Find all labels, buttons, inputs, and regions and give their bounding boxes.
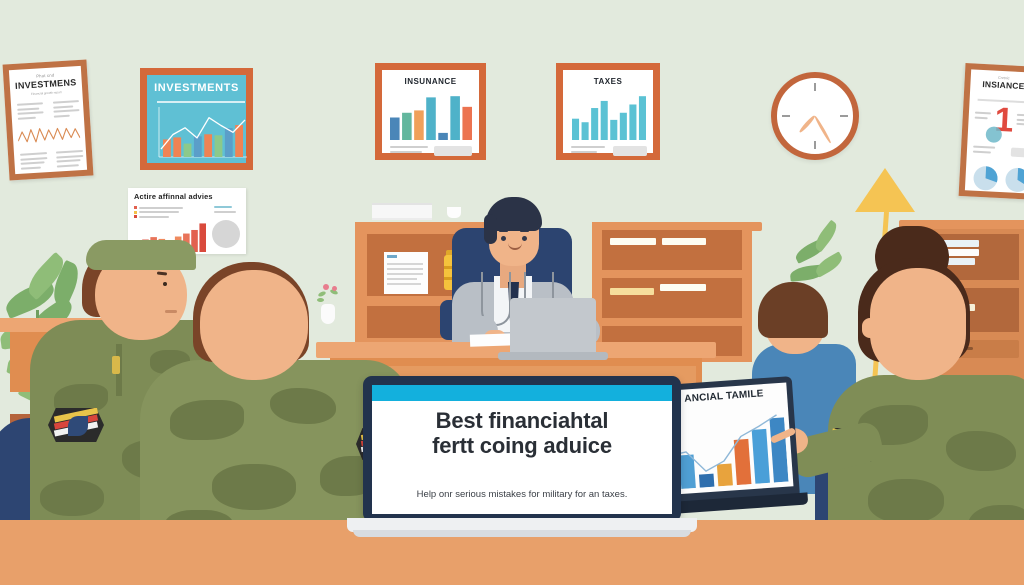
- book-stack: [660, 284, 706, 291]
- poster-insurance: INSUNANCE: [375, 63, 486, 160]
- shoulder-patch-left: [48, 408, 104, 442]
- camo-patch: [946, 431, 1016, 471]
- advisor-hair-side: [484, 214, 497, 244]
- poster-title: INSUNANCE: [382, 77, 479, 86]
- poster-mid-lines: [973, 146, 995, 156]
- paper-stack: [372, 203, 432, 218]
- poster-title: TAXES: [563, 77, 653, 86]
- poster-bar-chart: [572, 92, 646, 140]
- clock-tick-9: [782, 115, 790, 117]
- book-stack: [662, 238, 706, 245]
- laptop-headline-line2: fertt coing aduice: [432, 433, 612, 458]
- laptop-screen-header-bar: [372, 385, 672, 401]
- advisor-laptop-screen[interactable]: [510, 298, 596, 354]
- poster-footer-lines: [20, 152, 48, 172]
- poster-text-lines: [17, 102, 46, 122]
- clock-tick-3: [840, 115, 848, 117]
- camo-patch: [868, 479, 944, 523]
- desk-lamp-shade: [855, 168, 915, 212]
- poster-bar-line-chart: [155, 105, 247, 161]
- camo-patch: [212, 464, 296, 510]
- poster-left-lines: [975, 112, 991, 122]
- soldier-second-left-head: [200, 270, 308, 380]
- office-scene-illustration: Phut cnd INVESTMENS Financial growth rep…: [0, 0, 1024, 585]
- coffee-cup: [447, 207, 461, 218]
- eye: [163, 282, 167, 286]
- book-stack: [610, 238, 656, 245]
- poster-title: INSIANCE: [970, 78, 1024, 91]
- poster-footer-block: [434, 146, 472, 156]
- poster-footer-lines-2: [56, 150, 84, 170]
- advisor-laptop-base[interactable]: [498, 352, 608, 360]
- shelf-document: [384, 252, 428, 294]
- clock-tick-6: [814, 141, 816, 149]
- advisor-eye-right: [522, 236, 527, 241]
- poster-title: INVESTMENTS: [147, 82, 246, 94]
- laptop-headline-line1: Best financiahtal: [436, 408, 609, 433]
- poster-legend: [134, 206, 183, 218]
- poster-bar-chart: [390, 92, 472, 140]
- poster-taxes: TAXES: [556, 63, 660, 160]
- poster-pie-chart: [212, 220, 240, 248]
- poster-right-lines: [1016, 114, 1024, 128]
- foreground-laptop-base-shadow: [353, 530, 691, 537]
- soldier-right-head: [870, 268, 966, 380]
- poster-investments-teal: INVESTMENTS: [140, 68, 253, 170]
- advisor-eye-left: [501, 236, 506, 241]
- wall-clock: [771, 72, 859, 160]
- camo-patch: [170, 400, 244, 440]
- poster-pie-charts: [971, 162, 1024, 197]
- poster-divider: [157, 101, 245, 103]
- brow: [157, 271, 167, 275]
- poster-title: Actire affinnal advies: [134, 192, 246, 201]
- flower-vase: [312, 282, 342, 324]
- poster-investments-white: Phut cnd INVESTMENS Financial growth rep…: [3, 60, 94, 181]
- clock-hour-hand: [799, 115, 816, 134]
- clock-tick-12: [814, 83, 816, 91]
- rank-insignia: [112, 356, 120, 374]
- clock-minute-hand: [814, 115, 832, 143]
- poster-text-lines-2: [53, 100, 82, 120]
- soldier-right-ear: [862, 318, 878, 338]
- poster-mid-block: [1011, 148, 1024, 158]
- laptop-headline: Best financiahtal fertt coing aduice: [372, 408, 672, 458]
- poster-footer-block: [613, 146, 647, 156]
- poster-circle-accent: [985, 126, 1002, 143]
- camo-patch: [40, 480, 104, 516]
- poster-footer-lines: [390, 146, 428, 155]
- poster-insurance-right: Cnrtnic INSIANCE 1: [959, 63, 1024, 200]
- right-bookcase: [592, 222, 752, 362]
- camo-patch: [270, 388, 336, 424]
- poster-legend-right: [214, 206, 236, 215]
- soldier-front-left-cap: [86, 240, 196, 270]
- poster-footer-lines: [571, 146, 605, 155]
- mouth: [165, 310, 177, 313]
- laptop-subtitle: Help onr serious mistakes for military f…: [372, 489, 672, 500]
- nose: [175, 290, 185, 304]
- book-stack: [610, 288, 654, 295]
- bookcase-shelf-1: [602, 230, 742, 270]
- poster-line-chart: [17, 122, 80, 148]
